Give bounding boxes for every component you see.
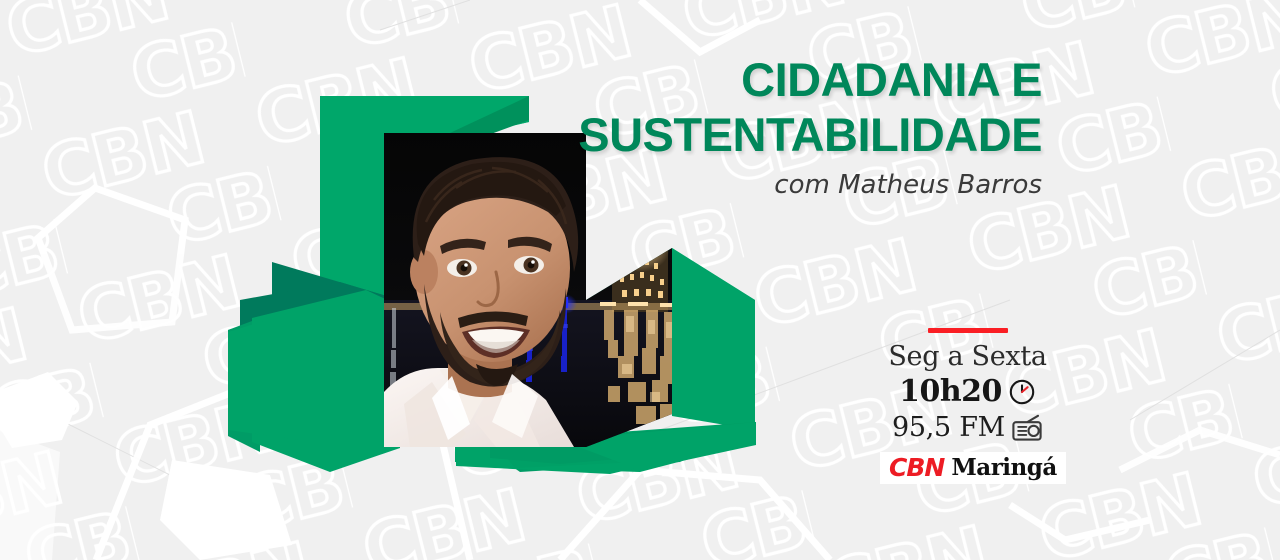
schedule-block: Seg a Sexta 10h20 95,5 FM: [880, 328, 1055, 484]
schedule-time-label: 10h20: [899, 374, 1002, 409]
schedule-time-row: 10h20: [880, 374, 1055, 409]
schedule-divider-rule: [928, 328, 1008, 333]
cbn-maringa-logo: CBN Maringá: [880, 452, 1066, 484]
schedule-frequency-row: 95,5 FM: [880, 412, 1055, 443]
radio-icon: [1011, 414, 1043, 442]
program-title-line-2: SUSTENTABILIDADE: [578, 111, 1042, 158]
schedule-days-label: Seg a Sexta: [880, 343, 1055, 371]
cbn-logo-city: Maringá: [951, 456, 1056, 479]
program-title-line-1: CIDADANIA E: [578, 56, 1042, 103]
cbn-logo-mark: CBN: [889, 455, 944, 480]
cbn-program-banner: CBN CBN: [0, 0, 1280, 560]
clock-icon: [1008, 378, 1036, 406]
program-host-subtitle: com Matheus Barros: [578, 172, 1042, 198]
program-title-block: CIDADANIA E SUSTENTABILIDADE com Matheus…: [578, 56, 1042, 198]
schedule-frequency-label: 95,5 FM: [892, 412, 1005, 443]
